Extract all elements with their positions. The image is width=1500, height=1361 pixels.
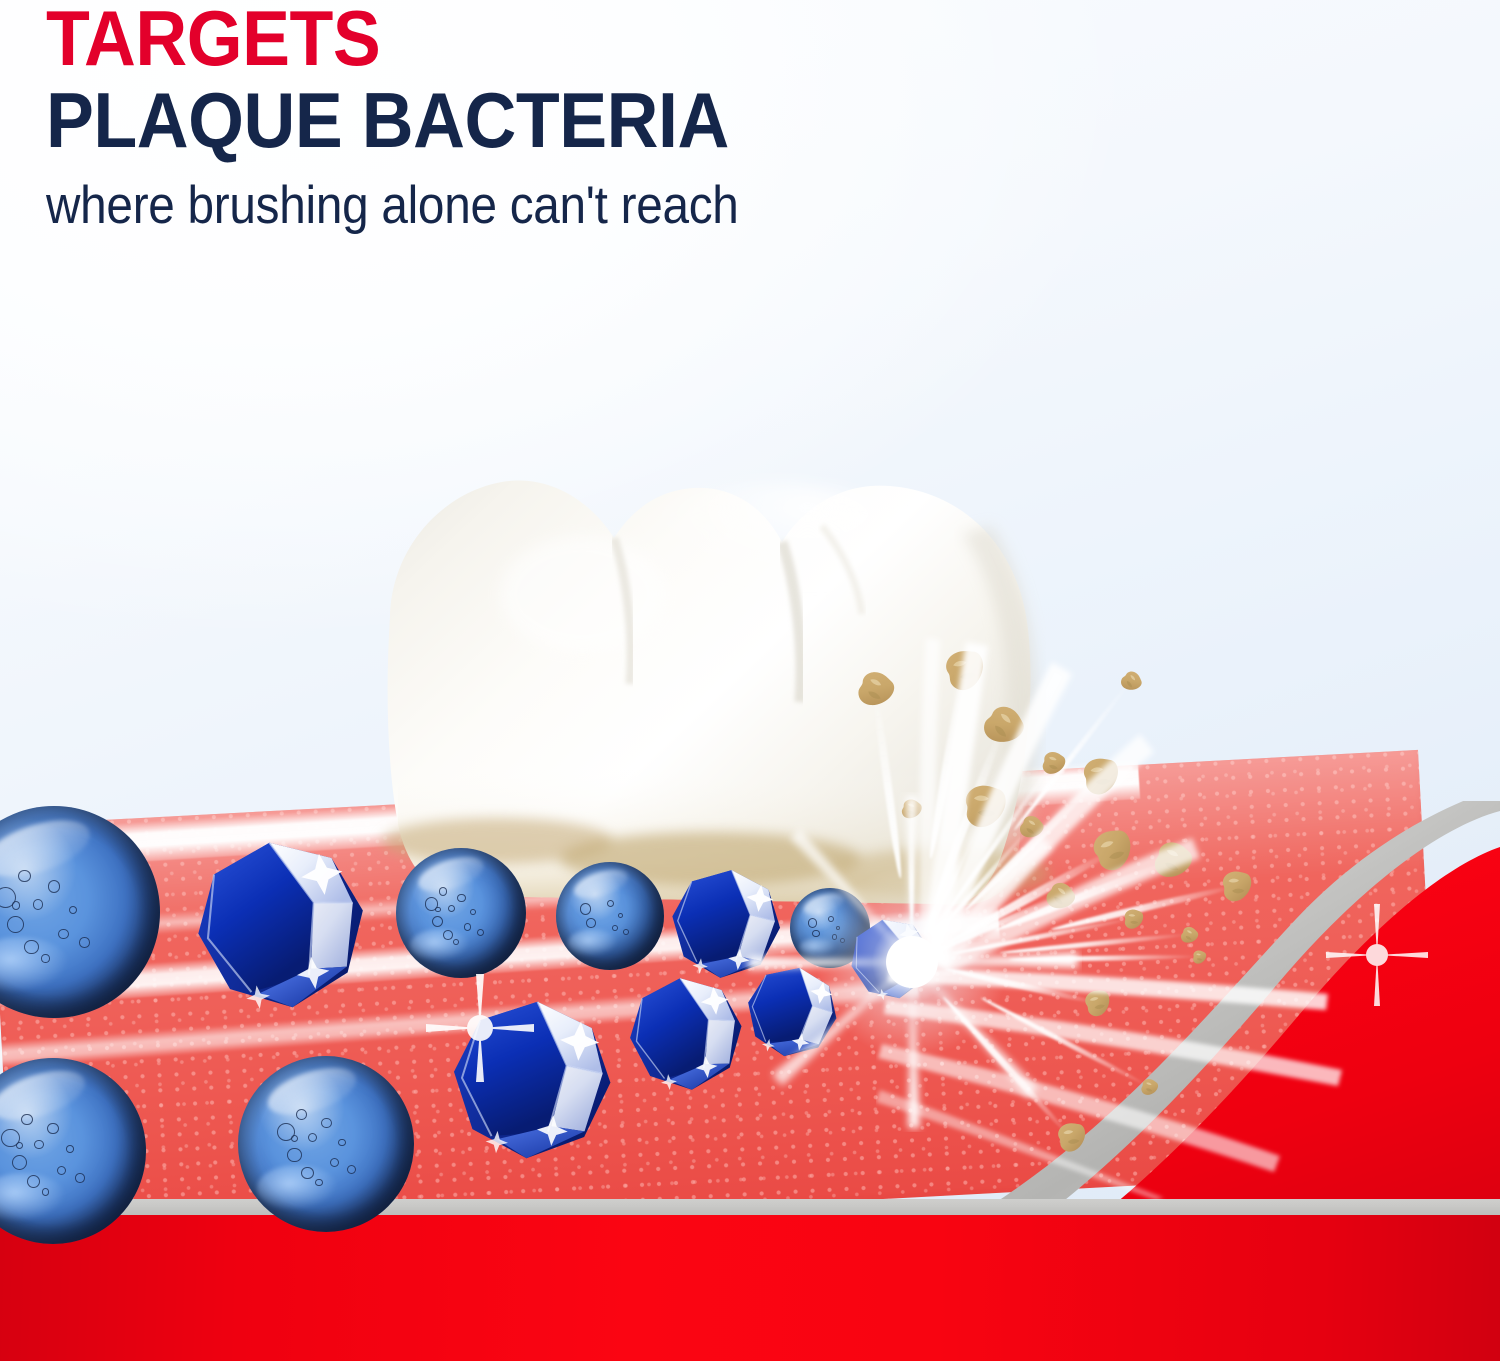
sphere-inner-bubble <box>33 899 43 909</box>
sphere-inner-bubble <box>435 907 441 913</box>
sphere-inner-bubble <box>812 930 820 938</box>
sphere-inner-bubble <box>470 909 476 915</box>
active-ingredient-sphere <box>396 848 526 978</box>
sphere-inner-bubble <box>586 918 596 928</box>
sphere-inner-bubble <box>41 954 49 962</box>
sphere-inner-bubble <box>66 1145 74 1153</box>
sphere-inner-bubble <box>338 1139 345 1146</box>
sphere-inner-bubble <box>330 1158 339 1167</box>
sphere-inner-bubble <box>34 1140 43 1149</box>
sphere-inner-bubble <box>580 903 592 915</box>
sphere-inner-bubble <box>832 934 837 939</box>
plaque-bacteria-chunk <box>1212 862 1259 909</box>
sphere-inner-bubble <box>79 937 89 947</box>
sphere-inner-bubble <box>287 1148 301 1162</box>
sphere-inner-bubble <box>828 916 834 922</box>
active-ingredient-crystal <box>442 990 621 1169</box>
plaque-bacteria-chunk <box>1036 746 1070 780</box>
sphere-inner-bubble <box>439 887 448 896</box>
headline-plaque-bacteria: PLAQUE BACTERIA <box>46 81 754 161</box>
sphere-inner-bubble <box>321 1118 332 1129</box>
sphere-inner-bubble <box>58 929 68 939</box>
footer-divider <box>0 1199 1500 1215</box>
active-ingredient-crystal <box>180 824 381 1025</box>
sphere-inner-bubble <box>75 1173 84 1182</box>
plaque-bacteria-ad: TARGETS PLAQUE BACTERIA where brushing a… <box>0 0 1500 1361</box>
plaque-bacteria-chunk <box>896 794 927 825</box>
sphere-inner-bubble <box>12 1155 27 1170</box>
plaque-bacteria-chunk <box>1119 905 1148 934</box>
active-ingredient-sphere <box>238 1056 414 1232</box>
tooth-gloss <box>622 482 922 626</box>
sphere-inner-bubble <box>18 870 31 883</box>
sphere-inner-bubble <box>42 1188 50 1196</box>
sphere-inner-bubble <box>443 930 453 940</box>
active-ingredient-crystal <box>736 956 847 1067</box>
plaque-bacteria-chunk <box>1190 948 1208 966</box>
sphere-inner-bubble <box>12 901 20 909</box>
plaque-bacteria-chunk <box>952 774 1015 837</box>
headline-block: TARGETS PLAQUE BACTERIA where brushing a… <box>46 2 816 232</box>
sphere-inner-bubble <box>453 939 459 945</box>
sphere-inner-bubble <box>808 918 817 927</box>
sphere-inner-bubble <box>24 940 39 955</box>
sphere-inner-bubble <box>457 894 466 903</box>
headline-subline: where brushing alone can't reach <box>46 179 739 232</box>
sphere-inner-bubble <box>21 1114 32 1125</box>
active-ingredient-sphere <box>556 862 664 970</box>
sphere-inner-bubble <box>477 929 484 936</box>
sphere-inner-bubble <box>47 1123 58 1134</box>
plaque-bacteria-chunk <box>1136 1074 1161 1099</box>
tooth-gloss-left <box>500 536 664 652</box>
red-footer-bar <box>0 1215 1500 1361</box>
sphere-inner-bubble <box>69 906 77 914</box>
sphere-inner-bubble <box>618 913 623 918</box>
sphere-inner-bubble <box>464 923 471 930</box>
active-ingredient-crystal <box>620 968 752 1100</box>
headline-targets: TARGETS <box>46 2 754 75</box>
sphere-inner-bubble <box>296 1109 307 1120</box>
sphere-inner-bubble <box>48 880 61 893</box>
